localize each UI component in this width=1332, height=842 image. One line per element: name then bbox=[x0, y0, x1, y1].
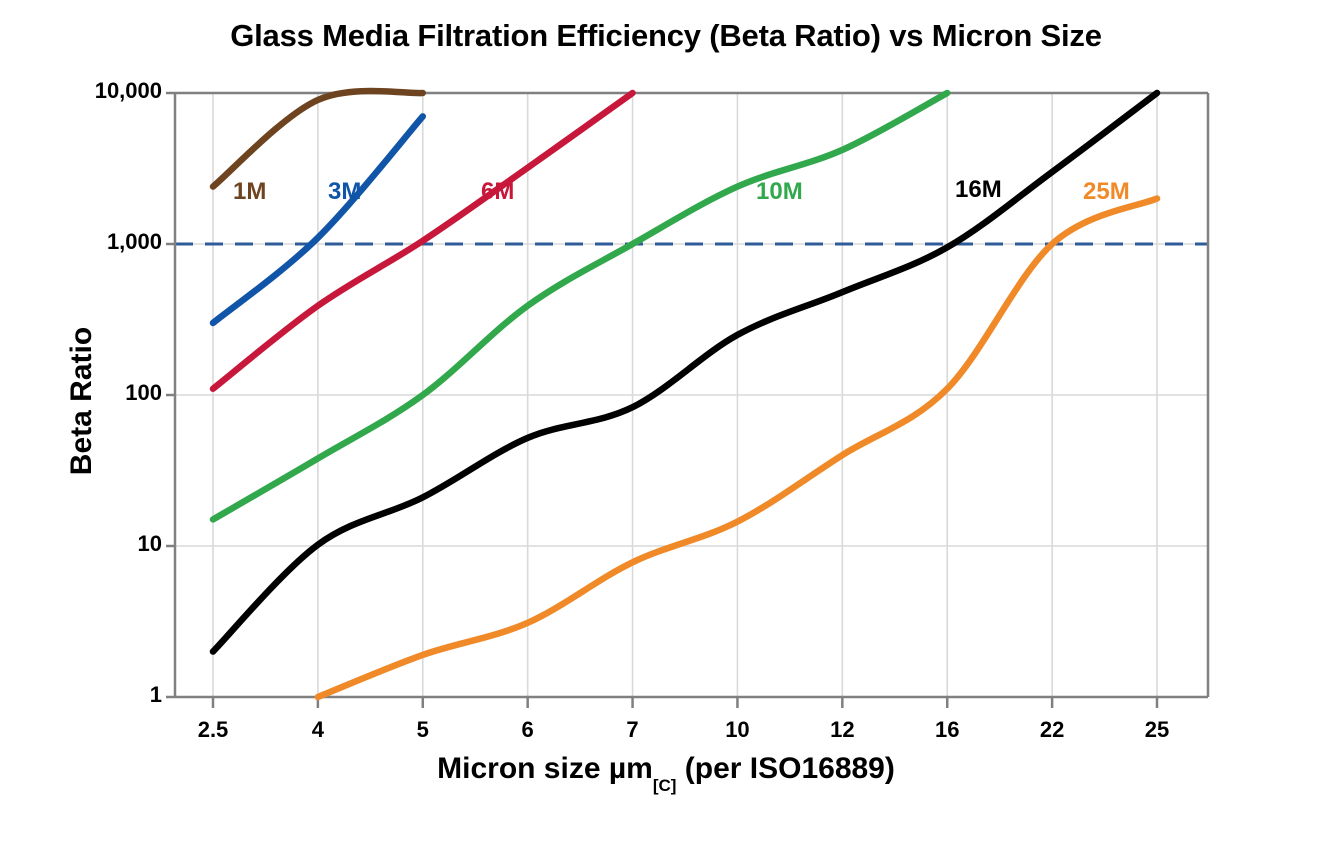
y-tick-label-10000: 10,000 bbox=[20, 78, 162, 104]
y-axis-title: Beta Ratio bbox=[65, 261, 99, 541]
x-tick-label-22: 22 bbox=[1007, 717, 1097, 743]
x-tick-label-2_5: 2.5 bbox=[168, 717, 258, 743]
series-label-1m: 1M bbox=[233, 178, 266, 206]
x-tick-label-7: 7 bbox=[588, 717, 678, 743]
x-tick-label-12: 12 bbox=[797, 717, 887, 743]
x-axis-title-suffix: (per ISO16889) bbox=[676, 752, 894, 785]
series-label-10m: 10M bbox=[756, 178, 803, 206]
x-tick-label-6: 6 bbox=[483, 717, 573, 743]
chart-svg bbox=[0, 0, 1332, 842]
y-tick-label-1: 1 bbox=[20, 682, 162, 708]
x-tick-label-4: 4 bbox=[273, 717, 363, 743]
x-tick-label-25: 25 bbox=[1112, 717, 1202, 743]
series-label-16m: 16M bbox=[955, 176, 1002, 204]
x-axis-title-subscript: [C] bbox=[653, 776, 677, 795]
series-label-25m: 25M bbox=[1083, 178, 1130, 206]
x-tick-label-5: 5 bbox=[378, 717, 468, 743]
x-axis-title-main: Micron size µm bbox=[437, 752, 653, 785]
series-label-6m: 6M bbox=[481, 178, 514, 206]
tick-marks bbox=[166, 93, 1157, 708]
chart-page: Glass Media Filtration Efficiency (Beta … bbox=[0, 0, 1332, 842]
x-tick-label-16: 16 bbox=[902, 717, 992, 743]
x-tick-label-10: 10 bbox=[692, 717, 782, 743]
plot-area: 1101001,00010,000 2.545671012162225 1M3M… bbox=[0, 0, 1332, 842]
y-tick-label-1000: 1,000 bbox=[20, 229, 162, 255]
series-label-3m: 3M bbox=[328, 178, 361, 206]
series-line-16m bbox=[213, 93, 1157, 652]
x-axis-title: Micron size µm[C] (per ISO16889) bbox=[0, 752, 1332, 790]
